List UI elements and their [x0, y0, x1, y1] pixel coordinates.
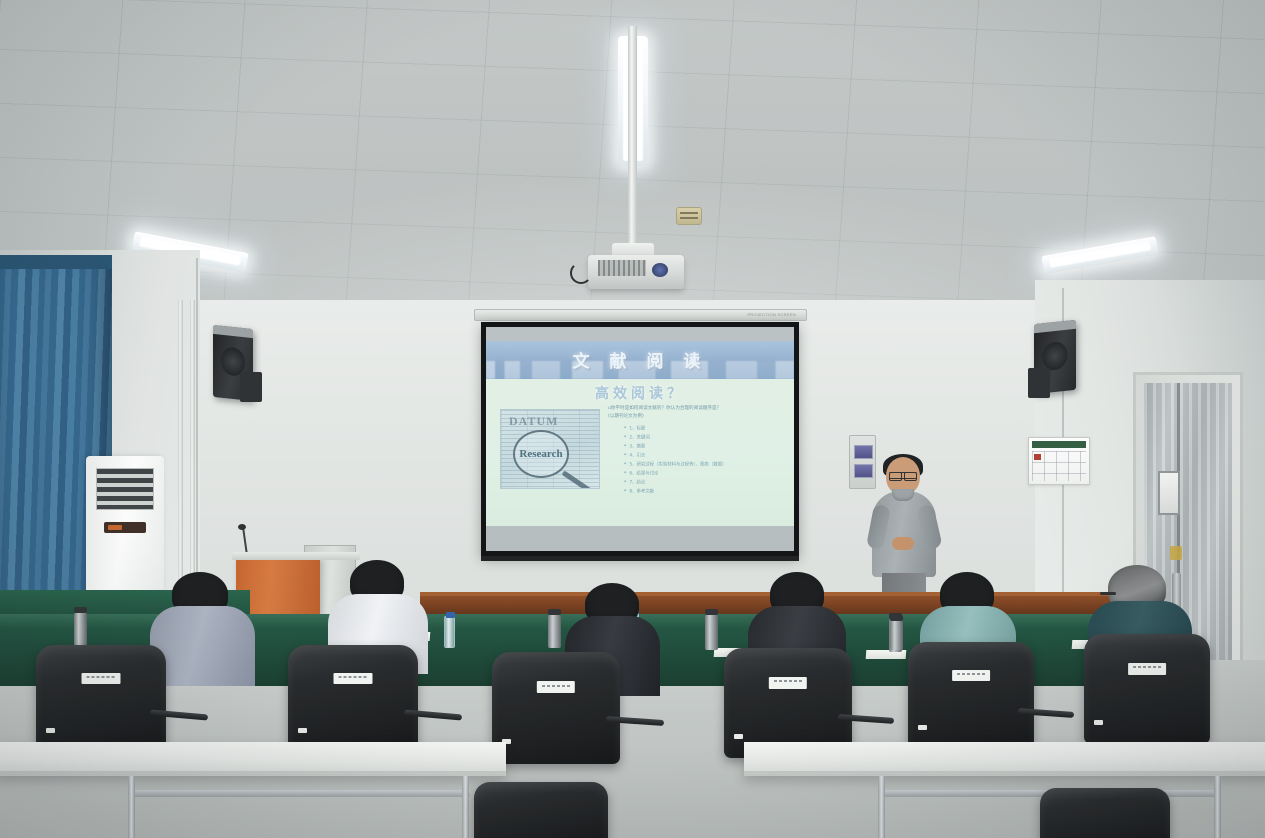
door-window [1158, 471, 1180, 515]
slide-list-item: 1、标题 [624, 425, 790, 434]
projector-vents [598, 260, 646, 276]
slide-title: 文 献 阅 读 [486, 347, 794, 372]
magnifier-word: Research [519, 448, 562, 460]
chair[interactable] [908, 642, 1034, 748]
presenter-hands [892, 537, 914, 550]
projector-cable [570, 262, 592, 284]
slide-list-item: 6、结果与讨论 [624, 470, 790, 479]
safety-information-board [1028, 437, 1090, 485]
slide-list-item: 3、摘要 [624, 443, 790, 452]
front-desk-right [744, 742, 1265, 776]
speaker-cone-right [1042, 340, 1067, 371]
chair-stud [918, 725, 927, 730]
presenter-collar [892, 489, 914, 501]
projector-pole [628, 26, 637, 256]
thermos-flask [890, 620, 903, 650]
slide-list-item: 8、参考文献 [624, 488, 790, 497]
board-header [1032, 441, 1086, 448]
front-row-chair[interactable] [474, 782, 608, 838]
slide-body: 高效阅读？ DATUM Research u你平时是如何阅读文献的？你认为合理的… [486, 379, 794, 526]
chair[interactable] [492, 652, 620, 764]
front-desk-left-leg [128, 776, 135, 838]
slide-research-image: DATUM Research [500, 409, 600, 489]
slide-list-item: 7、结论 [624, 479, 790, 488]
speaker-bracket-left [240, 372, 262, 402]
projector-lens [652, 263, 668, 277]
chair-stud [298, 728, 307, 733]
front-desk-right-leg [1214, 776, 1221, 838]
slide-question-line1: u你平时是如何阅读文献的？你认为合理的阅读顺序是？ [608, 405, 788, 413]
chair-stud [46, 728, 55, 733]
projection-screen-surface: 文 献 阅 读 高效阅读？ DATUM Research u你平时是如何阅读文献… [486, 327, 794, 551]
chair-stud [734, 734, 743, 739]
slide-list-item: 5、研究过程（实验材料与过程等）、图表（数据） [624, 461, 790, 470]
water-bottle [444, 616, 455, 648]
chair-seat-tag [1128, 663, 1166, 675]
ac-vent [96, 468, 154, 510]
curtain-rail [0, 255, 112, 269]
board-red-marker [1034, 454, 1041, 460]
ceiling-smoke-detector [676, 207, 702, 225]
slide-reading-order-list: 1、标题 2、关键词 3、摘要 4、引言 5、研究过程（实验材料与过程等）、图表… [624, 425, 790, 497]
slide-list-item: 2、关键词 [624, 434, 790, 443]
slide-subtitle: 高效阅读？ [486, 383, 794, 403]
slide-question-line2: (以期刊论文为例) [608, 413, 788, 421]
door-lock-plate [1170, 546, 1182, 560]
screen-bottom-bar [481, 556, 799, 561]
chair-seat-tag [769, 677, 807, 689]
presenter-glasses [889, 472, 917, 479]
front-desk-left [0, 742, 506, 776]
front-row-chair[interactable] [1040, 788, 1170, 838]
thermos-flask [705, 614, 718, 650]
microphone-head [238, 524, 246, 530]
magnifier-icon: Research [513, 430, 569, 478]
ceiling-projector [588, 255, 684, 289]
speaker-bracket-right [1028, 368, 1050, 398]
front-desk-right-leg [878, 776, 885, 838]
projection-screen-frame: 文 献 阅 读 高效阅读？ DATUM Research u你平时是如何阅读文献… [481, 322, 799, 556]
slide-question: u你平时是如何阅读文献的？你认为合理的阅读顺序是？ (以期刊论文为例) [608, 405, 788, 420]
chair-seat-tag [334, 673, 373, 685]
chair-seat-tag [537, 681, 575, 693]
slide-list-item: 4、引言 [624, 452, 790, 461]
slide-image-caption-top: DATUM [509, 414, 558, 429]
chair[interactable] [36, 645, 166, 751]
front-desk-left-rail [130, 790, 470, 797]
podium-top-surface [232, 552, 360, 560]
attendee-6-glasses [1100, 592, 1116, 595]
screen-casing-label: PROJECTION SCREEN [747, 312, 796, 317]
front-desk-left-leg [462, 776, 469, 838]
screen-casing: PROJECTION SCREEN [474, 309, 807, 321]
chair[interactable] [1084, 634, 1210, 744]
chair-seat-tag [952, 670, 990, 682]
chair[interactable] [288, 645, 418, 751]
chair-seat-tag [82, 673, 121, 685]
thermos-flask [548, 614, 561, 648]
chair-stud [1094, 720, 1103, 725]
slide-banner: 文 献 阅 读 [486, 341, 794, 379]
photo-scene: PROJECTION SCREEN 文 献 阅 读 高效阅读？ DATUM Re… [0, 0, 1265, 838]
presentation-slide: 文 献 阅 读 高效阅读？ DATUM Research u你平时是如何阅读文献… [486, 341, 794, 526]
ac-display [104, 522, 146, 533]
